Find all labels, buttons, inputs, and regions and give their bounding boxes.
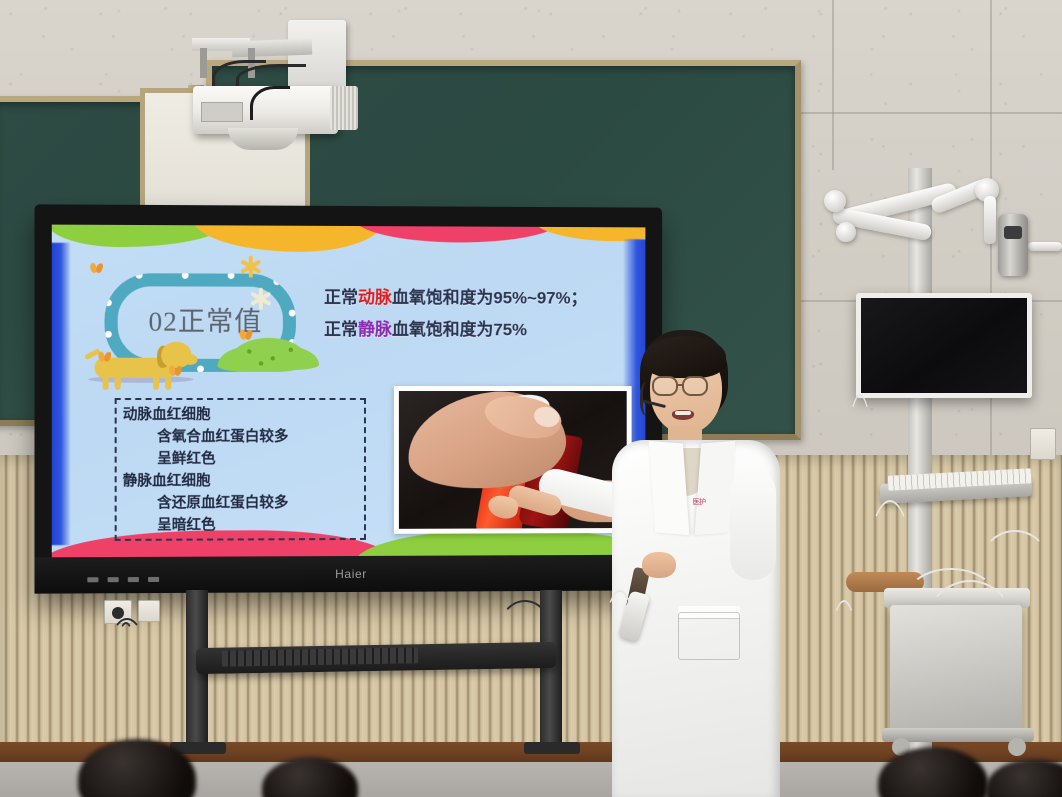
callout-line: 呈鲜红色 (123, 448, 369, 470)
outlet-socket (112, 607, 124, 619)
dog-leg (165, 376, 171, 390)
projector-panel (201, 102, 243, 122)
line1-prefix: 正常 (324, 288, 358, 307)
butterfly-icon (169, 366, 181, 376)
wall-data-port[interactable] (138, 600, 160, 622)
butterfly-icon (98, 352, 110, 362)
callout-line: 呈暗红色 (123, 514, 369, 537)
coat-pocket (678, 612, 740, 660)
cart-cable-bundle (980, 530, 1050, 600)
slide-band-orange-top (193, 225, 384, 253)
camera-mount-post (984, 196, 996, 244)
presenter-left-hand (642, 552, 676, 578)
presenter-left-arm (730, 470, 776, 580)
cart-caster (1008, 738, 1026, 756)
stand-foot (524, 742, 580, 754)
side-wall-outlet[interactable] (1030, 428, 1056, 460)
menu-button[interactable] (108, 577, 119, 582)
wall-tile-seam (832, 0, 834, 170)
butterfly-icon (240, 330, 252, 340)
dashed-callout-text: 动脉血红细胞 含氧合血红蛋白较多 呈鲜红色 静脉血红细胞 含还原血红蛋白较多 呈… (123, 404, 369, 537)
display-control-buttons[interactable] (87, 577, 159, 582)
line2-highlight: 静脉 (358, 320, 392, 339)
callout-line: 含氧合血红蛋白较多 (123, 426, 369, 448)
eyeglasses-bridge (678, 384, 684, 386)
side-monitor-screen[interactable] (861, 298, 1027, 393)
eyeglasses-right-lens-icon (682, 376, 708, 396)
dog-snout (183, 354, 197, 365)
wall-cable (118, 622, 134, 666)
line2-suffix: 血氧饱和度为75% (392, 320, 527, 339)
callout-line: 动脉血红细胞 (123, 404, 369, 426)
document-camera[interactable] (998, 214, 1028, 276)
callout-line: 静脉血红细胞 (123, 470, 369, 493)
slide-text-line-2: 正常静脉血氧饱和度为75% (324, 314, 632, 346)
flower-icon (240, 256, 262, 278)
stand-keyboard[interactable] (222, 647, 418, 666)
cart-cable-bundle (860, 500, 920, 750)
line1-highlight: 动脉 (358, 288, 392, 307)
microphone-cable (826, 600, 862, 790)
camera-arm-joint[interactable] (836, 222, 856, 242)
display-brand-logo: Haier (335, 567, 367, 581)
dog-leg (102, 376, 108, 390)
coat-badge: 医护 (682, 498, 716, 518)
stand-cable (498, 600, 552, 664)
callout-line: 含还原血红蛋白较多 (123, 492, 369, 515)
volume-button[interactable] (148, 577, 159, 582)
projector-cable (250, 86, 290, 120)
coat-lapel-left (649, 441, 690, 536)
presenter-mouth (672, 410, 694, 420)
slide-body-text: 正常动脉血氧饱和度为95%~97%； 正常静脉血氧饱和度为75% (324, 282, 632, 346)
camera-side-rod (1028, 242, 1062, 251)
dog-leg (153, 376, 159, 390)
line2-prefix: 正常 (324, 320, 358, 339)
interactive-display[interactable]: 02正常值 (35, 204, 663, 593)
dog-leg (115, 376, 121, 390)
butterfly-icon (90, 263, 102, 273)
projector-lens (330, 86, 358, 130)
display-bottom-bezel: Haier (35, 555, 663, 594)
camera-arm-joint[interactable] (824, 190, 846, 212)
slide-band-pink-top (354, 225, 563, 243)
side-monitor[interactable] (856, 293, 1032, 398)
flower-icon (250, 288, 272, 310)
source-button[interactable] (128, 577, 139, 582)
projector-mirror-housing (228, 128, 298, 150)
classroom-photo: 02正常值 (0, 0, 1062, 797)
camera-lens-icon (1004, 226, 1022, 239)
power-button[interactable] (87, 577, 98, 582)
slide-band-blue-left (52, 243, 70, 545)
line1-suffix: 血氧饱和度为95%~97%； (392, 288, 587, 307)
microphone-cable (598, 590, 642, 790)
projector-post (200, 48, 207, 78)
slide-text-line-1: 正常动脉血氧饱和度为95%~97%； (324, 282, 632, 315)
presenter-hair-front (644, 336, 726, 378)
